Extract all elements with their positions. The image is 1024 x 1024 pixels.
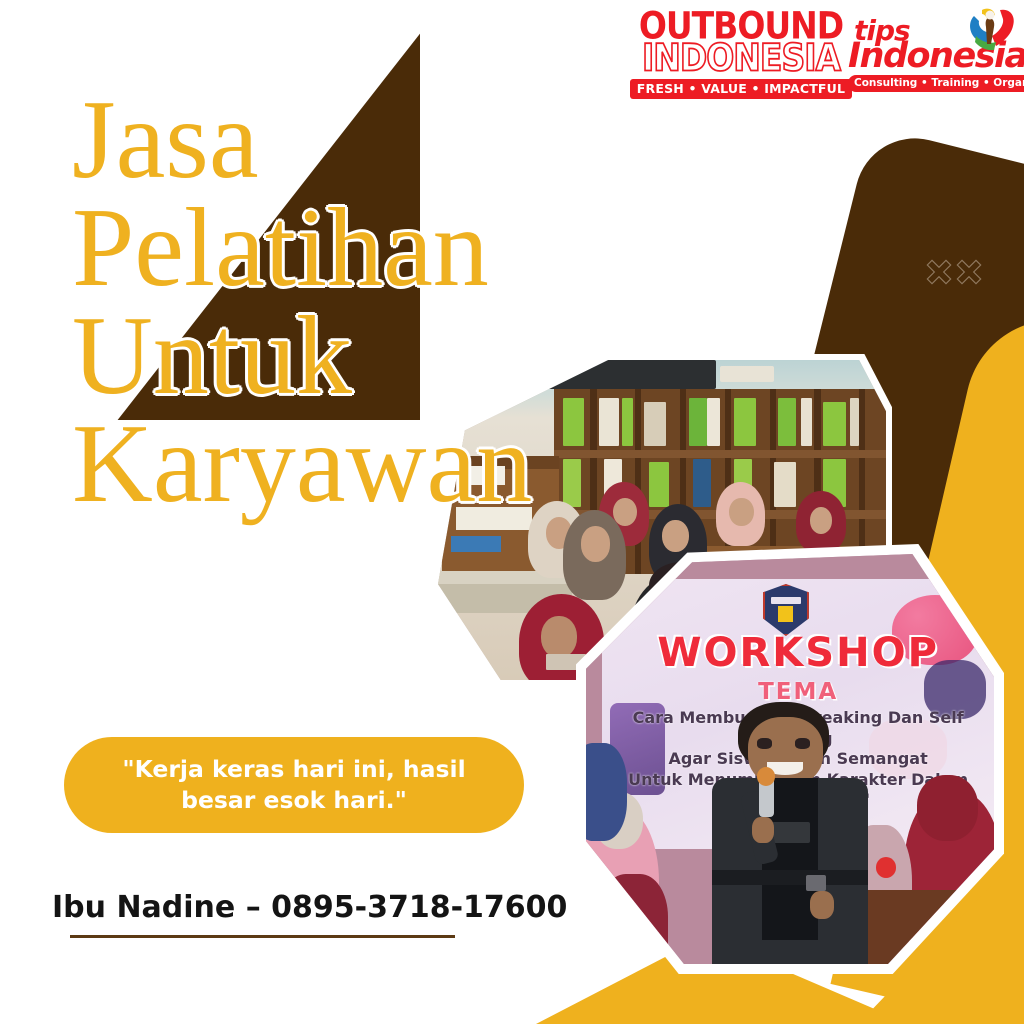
- x-cross-outline-icon: [925, 258, 953, 286]
- logo-group: OUTBOUND INDONESIA FRESH • VALUE • IMPAC…: [648, 6, 1024, 102]
- page-title: Jasa Pelatihan Untuk Karyawan: [72, 86, 712, 518]
- contact-name-phone: Ibu Nadine – 0895-3718-17600: [52, 890, 567, 925]
- headline-line-1: Jasa: [72, 86, 712, 194]
- x-decoration-group: [925, 258, 983, 286]
- speaker-figure: [708, 702, 871, 964]
- headline-line-2: Pelatihan: [72, 194, 712, 302]
- quote-text: "Kerja keras hari ini, hasil besar esok …: [64, 754, 524, 815]
- headline-line-3: Untuk: [72, 302, 712, 410]
- banner-title: WORKSHOP: [602, 630, 994, 676]
- quote-badge: "Kerja keras hari ini, hasil besar esok …: [64, 737, 524, 833]
- bottom-photo-workshop-speaker: WORKSHOP TEMA Cara Membuat Ice Breaking …: [586, 554, 994, 964]
- headline-line-4: Karyawan: [72, 410, 712, 518]
- people-figure-icon: [956, 6, 1018, 62]
- x-cross-outline-icon: [955, 258, 983, 286]
- school-crest-icon: [763, 584, 809, 636]
- logo-tips-indonesia: tips Indonesia Consulting • Training • O…: [848, 6, 1020, 92]
- poster-canvas: OUTBOUND INDONESIA FRESH • VALUE • IMPAC…: [0, 0, 1024, 1024]
- logo-outbound-indonesia: OUTBOUND INDONESIA FRESH • VALUE • IMPAC…: [648, 6, 834, 99]
- contact-block: Ibu Nadine – 0895-3718-17600: [52, 890, 567, 938]
- outbound-wordmark-line2: INDONESIA: [642, 40, 840, 75]
- tips-tagline: Consulting • Training • Organizer: [848, 75, 1024, 92]
- outbound-tagline: FRESH • VALUE • IMPACTFUL: [630, 79, 852, 99]
- contact-underline: [70, 935, 455, 938]
